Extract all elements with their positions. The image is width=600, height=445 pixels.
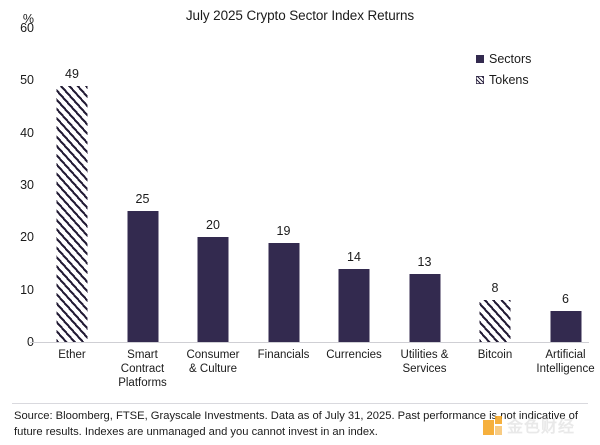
bar-consumer-culture[interactable] [198,237,229,342]
x-axis-baseline [30,342,589,343]
bar-value-label: 8 [464,281,526,295]
footnote-source-text: Source: Bloomberg, FTSE, Grayscale Inves… [14,409,586,440]
bar-group: 20Consumer& Culture [182,28,244,342]
bar-group: 19Financials [253,28,315,342]
x-axis-category-label: SmartContractPlatforms [106,348,180,390]
chart-figure: July 2025 Crypto Sector Index Returns Se… [0,0,600,445]
y-axis-tick-30: 30 [0,178,34,192]
y-axis-tick-10: 10 [0,283,34,297]
x-axis-category-label: ArtificialIntelligence [529,348,600,376]
x-axis-category-label: Utilities &Services [388,348,462,376]
bar-value-label: 20 [182,218,244,232]
bar-artificial-intelligence[interactable] [550,311,581,342]
bar-group: 25SmartContractPlatforms [112,28,174,342]
y-axis-tick-50: 50 [0,73,34,87]
chart-title: July 2025 Crypto Sector Index Returns [0,8,600,23]
y-axis-tick-0: 0 [0,335,34,349]
x-axis-category-label: Ether [35,348,109,362]
y-axis-tick-20: 20 [0,230,34,244]
bar-value-label: 25 [112,192,174,206]
bar-value-label: 14 [323,250,385,264]
bar-value-label: 49 [41,67,103,81]
bar-group: 14Currencies [323,28,385,342]
bar-value-label: 6 [535,292,597,306]
bar-group: 13Utilities &Services [394,28,456,342]
bar-financials[interactable] [268,243,299,342]
bar-value-label: 19 [253,224,315,238]
bar-bitcoin[interactable] [480,300,511,342]
bar-group: 6ArtificialIntelligence [535,28,597,342]
plot-area: 49Ether25SmartContractPlatforms20Consume… [41,28,589,342]
bar-ether[interactable] [57,86,88,342]
bar-group: 8Bitcoin [464,28,526,342]
y-axis-tick-60: 60 [0,21,34,35]
x-axis-category-label: Financials [247,348,321,362]
x-axis-category-label: Consumer& Culture [176,348,250,376]
bar-currencies[interactable] [339,269,370,342]
y-axis-tick-40: 40 [0,126,34,140]
x-axis-category-label: Bitcoin [458,348,532,362]
x-axis-category-label: Currencies [317,348,391,362]
footnote-divider [12,403,588,404]
bar-group: 49Ether [41,28,103,342]
bar-utilities-services[interactable] [409,274,440,342]
bar-value-label: 13 [394,255,456,269]
bar-smart-contract-platforms[interactable] [127,211,158,342]
